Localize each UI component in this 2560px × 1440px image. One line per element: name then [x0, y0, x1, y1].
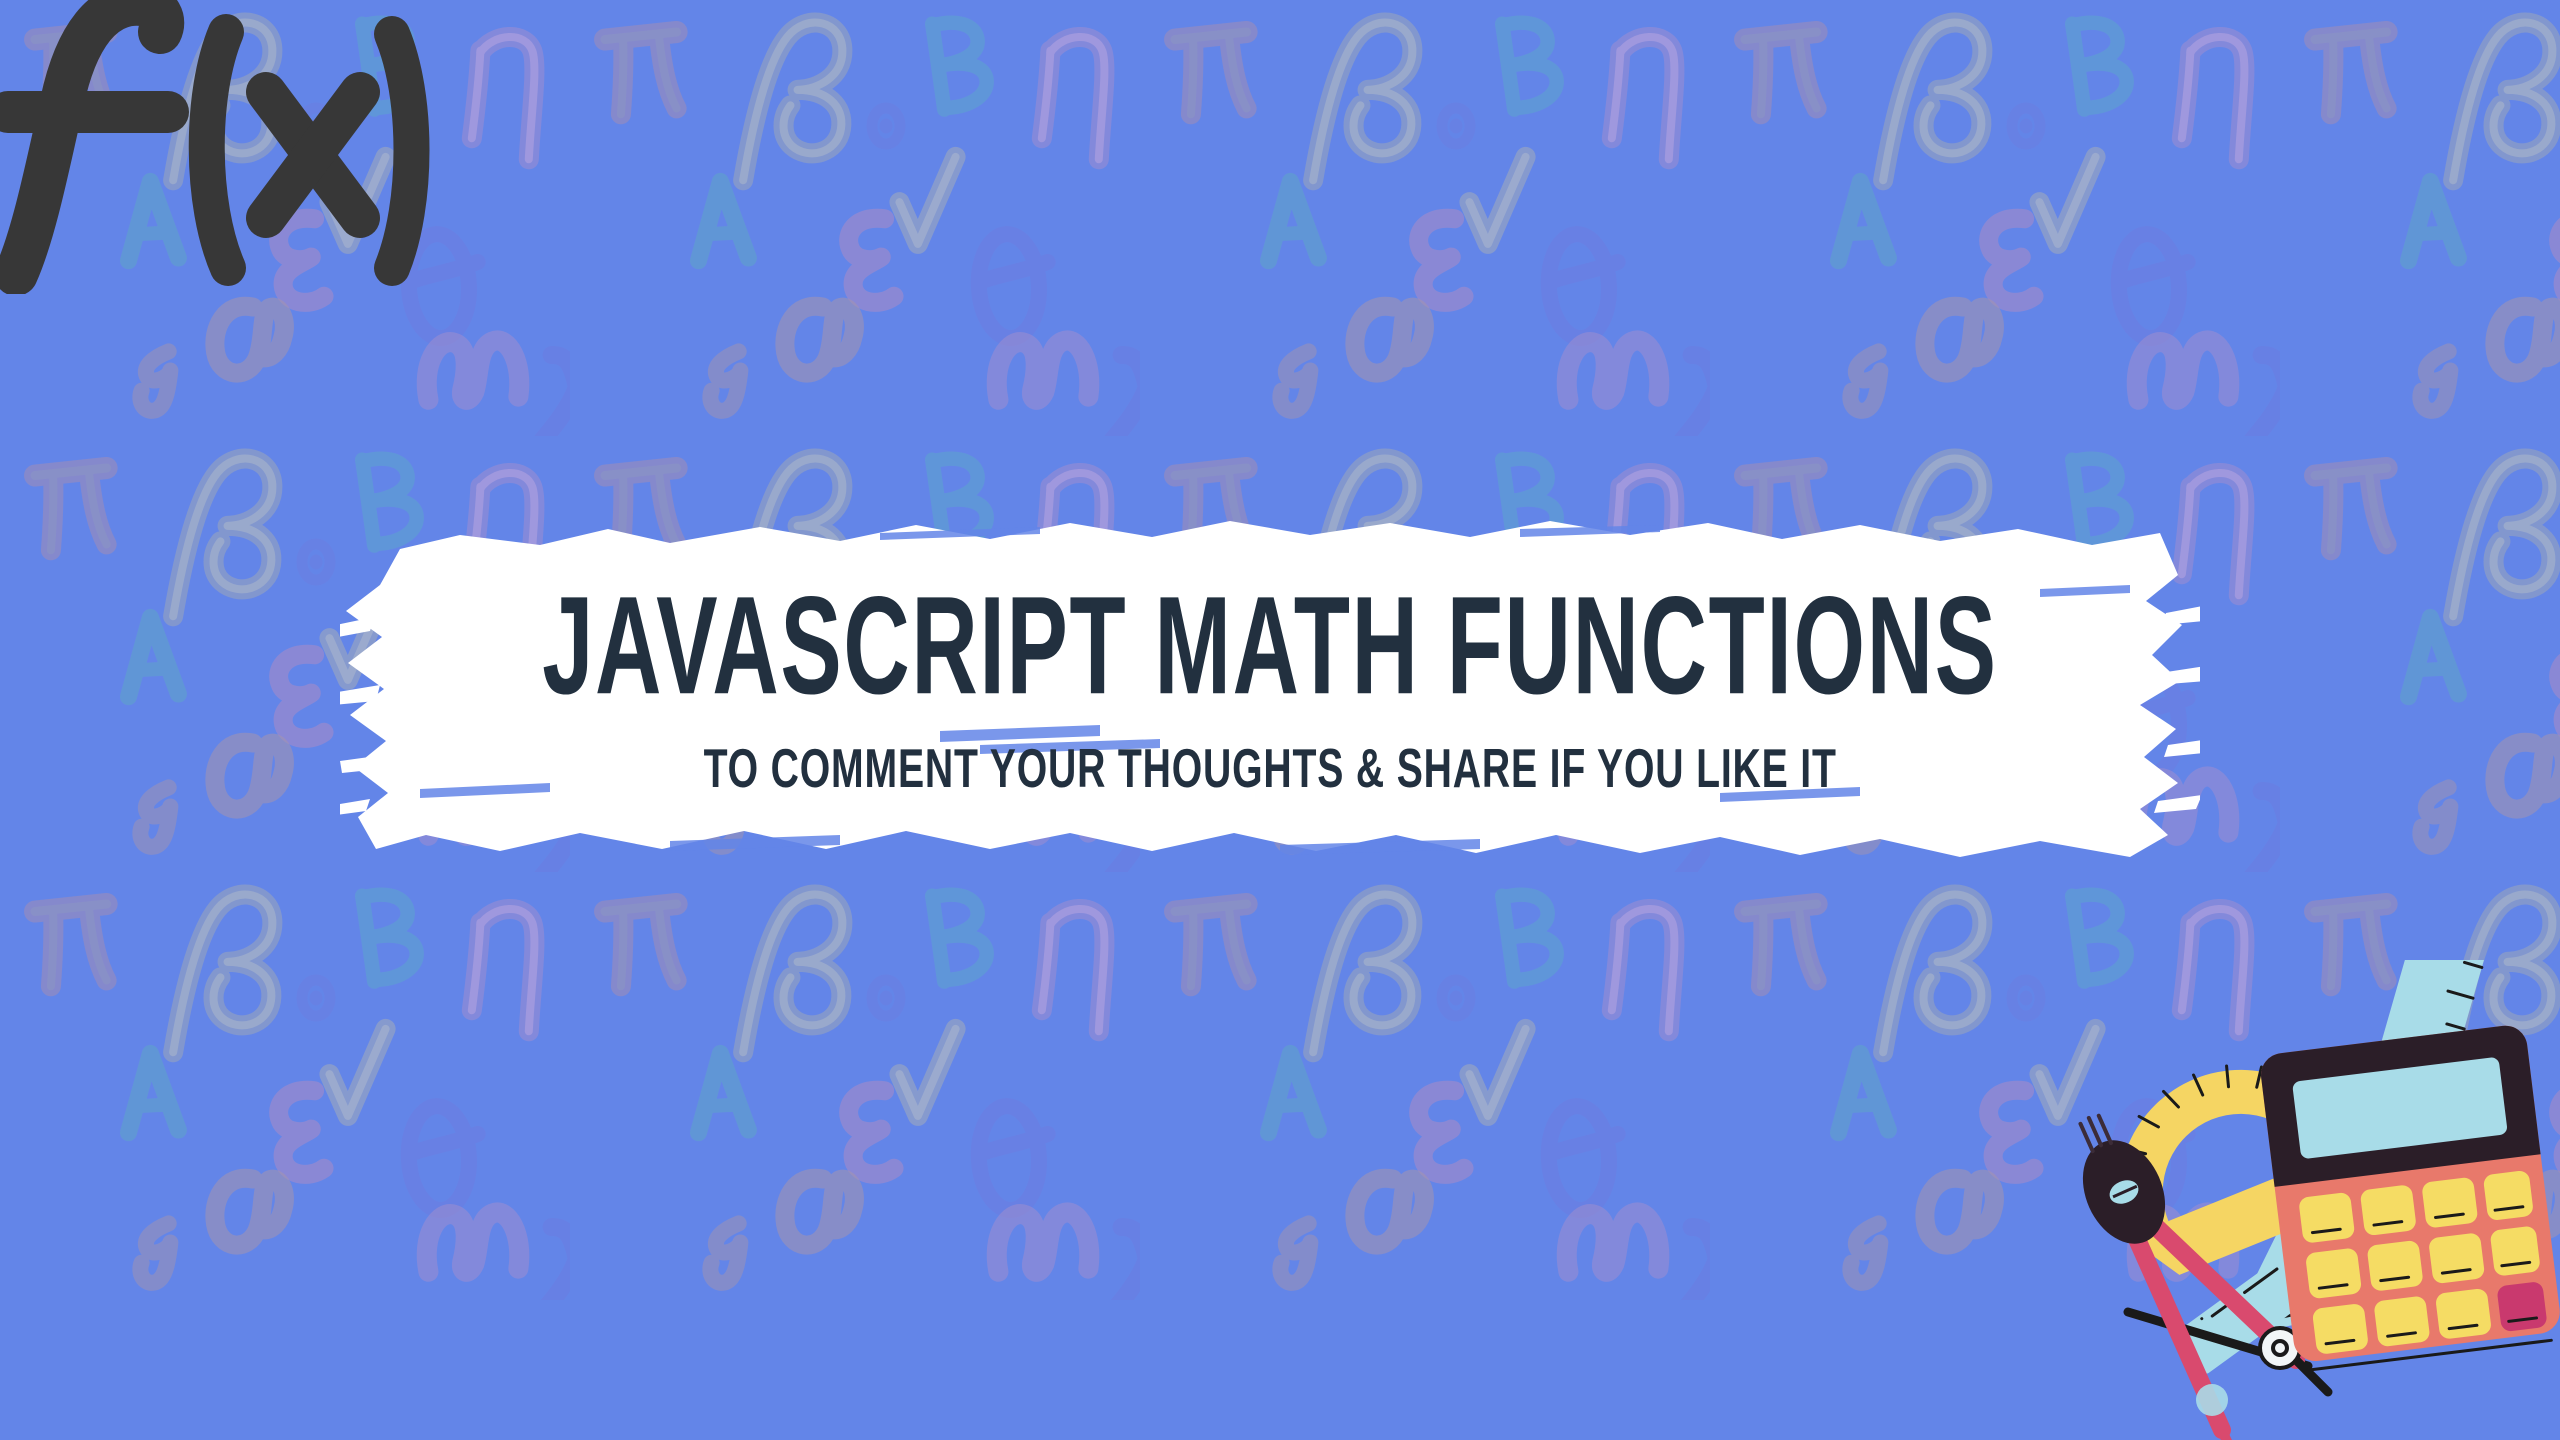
poster-canvas: JAVASCRIPT MATH FUNCTIONS TO COMMENT YOU… — [0, 0, 2560, 1440]
math-tools-illustration — [2060, 960, 2560, 1440]
page-title: JAVASCRIPT MATH FUNCTIONS — [542, 576, 1997, 715]
title-banner: JAVASCRIPT MATH FUNCTIONS TO COMMENT YOU… — [340, 505, 2200, 875]
page-subtitle: TO COMMENT YOUR THOUGHTS & SHARE IF YOU … — [703, 742, 1836, 797]
calculator-icon — [2259, 1023, 2560, 1371]
calculator-accent-key — [2496, 1281, 2547, 1332]
